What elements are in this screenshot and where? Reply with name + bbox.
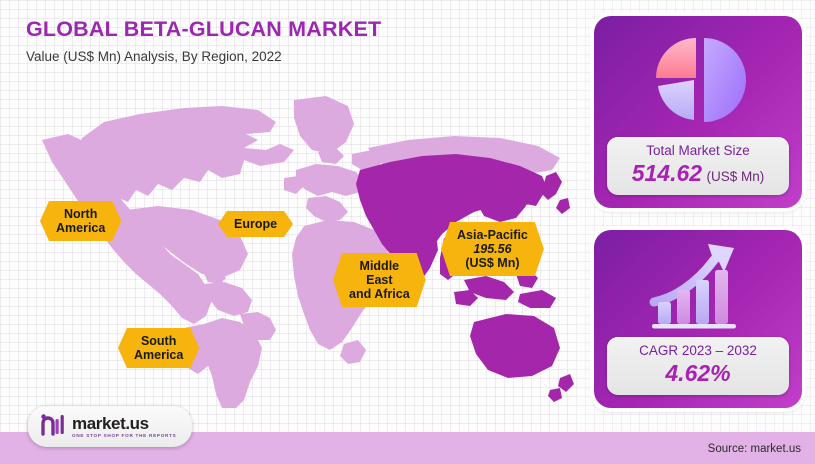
cagr-pill: CAGR 2023 – 2032 4.62% [607, 337, 789, 395]
region-label-line: America [134, 348, 183, 362]
region-label-south-america[interactable]: South America [118, 328, 199, 368]
region-label-line: South [134, 334, 183, 348]
logo-name: market.us [72, 415, 176, 432]
region-label-line: and Africa [349, 287, 410, 301]
logo-tagline: ONE STOP SHOP FOR THE REPORTS [72, 434, 176, 439]
region-label-line: Asia-Pacific [457, 228, 528, 242]
cagr-value-row: 4.62% [611, 361, 785, 386]
region-label-europe[interactable]: Europe [218, 211, 293, 237]
region-label-line: North [56, 207, 105, 221]
cagr-value: 4.62% [665, 360, 730, 386]
region-label-north-america[interactable]: North America [40, 201, 121, 241]
region-label-line: Middle [349, 259, 410, 273]
infographic-root: GLOBAL BETA-GLUCAN MARKET Value (US$ Mn)… [0, 0, 815, 464]
region-value: 195.56 [457, 242, 528, 256]
source-text: Source: market.us [708, 443, 801, 455]
page-title: GLOBAL BETA-GLUCAN MARKET [26, 18, 546, 42]
region-label-line: Europe [234, 217, 277, 231]
card-cagr[interactable]: CAGR 2023 – 2032 4.62% [594, 230, 802, 408]
region-label-line: East [349, 273, 410, 287]
region-label-line: America [56, 221, 105, 235]
market-size-pill: Total Market Size 514.62 (US$ Mn) [607, 137, 789, 195]
market-size-label: Total Market Size [611, 144, 785, 159]
market-size-value: 514.62 [632, 160, 702, 186]
header: GLOBAL BETA-GLUCAN MARKET Value (US$ Mn)… [26, 18, 546, 65]
market-us-logo[interactable]: market.us ONE STOP SHOP FOR THE REPORTS [28, 406, 192, 447]
market-size-unit: (US$ Mn) [707, 169, 765, 184]
region-label-asia-pacific[interactable]: Asia-Pacific 195.56 (US$ Mn) [441, 222, 544, 276]
logo-text: market.us ONE STOP SHOP FOR THE REPORTS [72, 415, 176, 439]
region-value-unit: (US$ Mn) [457, 256, 528, 270]
pie-chart-icon [594, 24, 802, 136]
logo-mark-icon [39, 412, 65, 441]
growth-bar-chart-icon [594, 236, 802, 340]
region-label-middle-east-and-africa[interactable]: Middle East and Africa [333, 253, 426, 307]
cagr-label: CAGR 2023 – 2032 [611, 344, 785, 359]
page-subtitle: Value (US$ Mn) Analysis, By Region, 2022 [26, 49, 546, 65]
card-total-market-size[interactable]: Total Market Size 514.62 (US$ Mn) [594, 16, 802, 208]
market-size-value-row: 514.62 (US$ Mn) [611, 161, 785, 186]
